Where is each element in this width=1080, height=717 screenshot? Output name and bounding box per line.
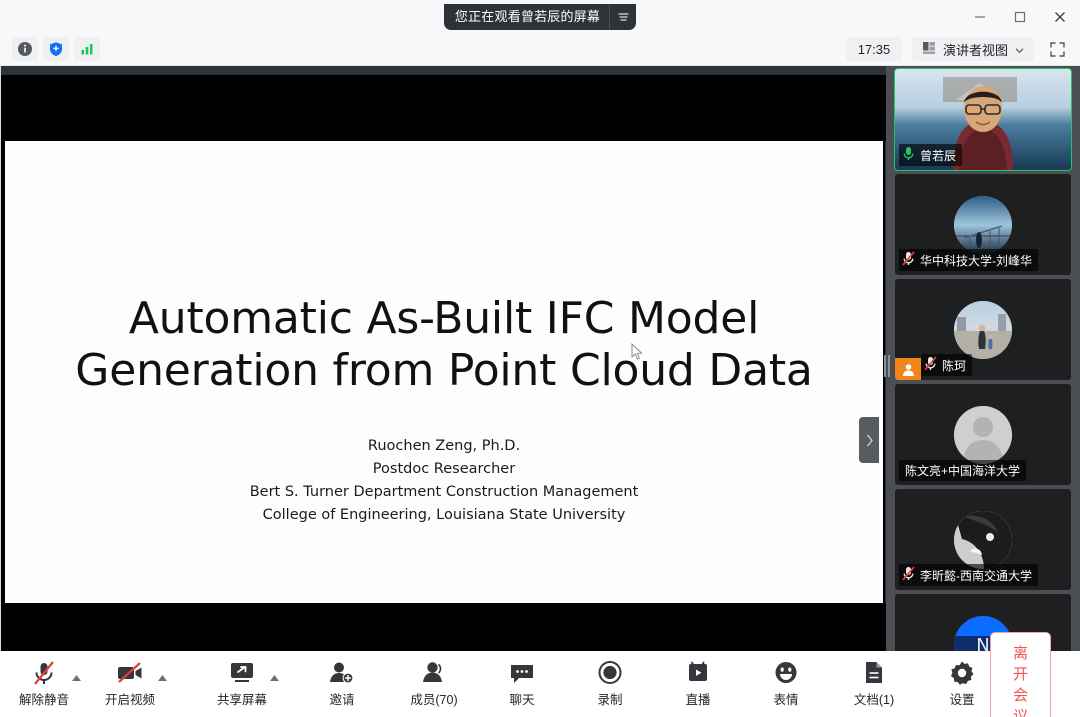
slide-subtitle-line-2: Postdoc Researcher [5, 458, 883, 481]
chat-button[interactable]: 聊天 [494, 655, 550, 713]
emoji-smile-icon [773, 660, 799, 686]
participant-tile[interactable]: 李昕懿-西南交通大学 [895, 489, 1071, 590]
participant-name: 李昕懿-西南交通大学 [920, 567, 1032, 584]
document-icon [862, 660, 886, 686]
microphone-muted-icon [924, 356, 937, 374]
svg-text:N: N [976, 635, 989, 652]
start-video-button-label: 开启视频 [105, 689, 155, 708]
participant-panel[interactable]: 曾若辰 [886, 66, 1080, 651]
participant-name: 陈文亮+中国海洋大学 [905, 462, 1020, 479]
gear-icon [949, 660, 975, 686]
layout-icon [922, 41, 936, 58]
screen-share-banner[interactable]: 您正在观看曾若辰的屏幕 [444, 4, 636, 30]
meeting-toolbar: 17:35 演讲者视图 [0, 33, 1080, 66]
panel-resize-handle[interactable] [882, 353, 891, 379]
mouse-pointer-icon [631, 343, 643, 361]
unmute-button[interactable]: 解除静音 [16, 655, 72, 713]
meeting-controls-bar: 解除静音 开启视频 共享屏幕 [0, 651, 1080, 717]
view-mode-select[interactable]: 演讲者视图 [912, 37, 1034, 61]
toolbar-left-group [0, 37, 100, 61]
invite-button-label: 邀请 [329, 689, 354, 708]
presentation-slide: Automatic As-Built IFC Model Generation … [5, 141, 883, 603]
slide-subtitle-line-3: Bert S. Turner Department Construction M… [5, 481, 883, 504]
record-icon [597, 660, 623, 686]
emoji-button-label: 表情 [773, 689, 798, 708]
slide-subtitle-line-4: College of Engineering, Louisiana State … [5, 504, 883, 527]
participant-name: 华中科技大学-刘峰华 [920, 252, 1032, 269]
menu-icon[interactable] [609, 4, 636, 30]
share-screen-button[interactable]: 共享屏幕 [214, 655, 270, 713]
maximize-icon[interactable] [1000, 0, 1040, 33]
members-button[interactable]: 成员(70) [406, 655, 462, 713]
signal-bars-icon[interactable] [74, 37, 100, 61]
letterbox-bottom [1, 603, 887, 651]
minimize-icon[interactable] [960, 0, 1000, 33]
invite-button[interactable]: 邀请 [314, 655, 370, 713]
live-broadcast-icon [685, 660, 711, 686]
shared-screen-stage[interactable]: Automatic As-Built IFC Model Generation … [0, 66, 886, 651]
view-mode-label: 演讲者视图 [943, 40, 1008, 59]
close-icon[interactable] [1040, 0, 1080, 33]
window-controls [960, 0, 1080, 33]
leave-meeting-button[interactable]: 离开会议 [990, 632, 1051, 717]
participant-nametag: 陈文亮+中国海洋大学 [899, 460, 1026, 481]
host-badge-icon [895, 358, 921, 380]
audio-options-caret-icon[interactable] [71, 671, 82, 685]
participant-tile[interactable]: 陈文亮+中国海洋大学 [895, 384, 1071, 485]
unmute-button-label: 解除静音 [19, 689, 69, 708]
shield-icon[interactable] [43, 37, 69, 61]
screen-share-banner-text: 您正在观看曾若辰的屏幕 [455, 4, 600, 30]
avatar [954, 406, 1012, 464]
video-options-caret-icon[interactable] [157, 671, 168, 685]
letterbox-top [1, 75, 887, 141]
participant-nametag: 华中科技大学-刘峰华 [899, 249, 1038, 271]
microphone-icon [902, 146, 915, 164]
meeting-window: 您正在观看曾若辰的屏幕 [0, 0, 1080, 717]
participant-tile[interactable]: 华中科技大学-刘峰华 [895, 174, 1071, 275]
settings-button[interactable]: 设置 [934, 655, 990, 713]
add-person-icon [329, 660, 355, 686]
share-options-caret-icon[interactable] [269, 671, 280, 685]
chevron-right-icon[interactable] [859, 417, 879, 463]
settings-button-label: 设置 [949, 689, 974, 708]
share-screen-button-label: 共享屏幕 [217, 689, 267, 708]
participant-nametag: 陈珂 [921, 354, 972, 376]
slide-title-line-2: Generation from Point Cloud Data [5, 345, 883, 397]
info-icon[interactable] [12, 37, 38, 61]
slide-subtitle-line-1: Ruochen Zeng, Ph.D. [5, 435, 883, 458]
participant-nametag: 李昕懿-西南交通大学 [899, 564, 1038, 586]
slide-title: Automatic As-Built IFC Model Generation … [5, 293, 883, 398]
members-button-label: 成员(70) [410, 689, 457, 708]
avatar [954, 511, 1012, 569]
microphone-muted-icon [902, 251, 915, 269]
participant-tile[interactable]: 陈珂 [895, 279, 1071, 380]
avatar [954, 301, 1012, 359]
participant-list[interactable]: 曾若辰 [886, 66, 1080, 651]
live-broadcast-button-label: 直播 [685, 689, 710, 708]
meeting-clock: 17:35 [846, 37, 902, 61]
slide-subtitle: Ruochen Zeng, Ph.D. Postdoc Researcher B… [5, 435, 883, 527]
start-video-button[interactable]: 开启视频 [102, 655, 158, 713]
share-screen-icon [228, 660, 256, 686]
record-button-label: 录制 [597, 689, 622, 708]
microphone-muted-icon [902, 566, 915, 584]
participant-name: 曾若辰 [920, 147, 956, 164]
camera-off-icon [116, 660, 144, 686]
title-bar: 您正在观看曾若辰的屏幕 [0, 0, 1080, 33]
fullscreen-icon[interactable] [1044, 37, 1070, 61]
chat-button-label: 聊天 [509, 689, 534, 708]
chevron-down-icon [1015, 42, 1024, 57]
live-broadcast-button[interactable]: 直播 [670, 655, 726, 713]
documents-button-label: 文档(1) [854, 689, 894, 708]
avatar [954, 196, 1012, 254]
participant-name: 陈珂 [942, 357, 966, 374]
person-icon [421, 660, 447, 686]
participant-nametag: 曾若辰 [899, 144, 962, 166]
record-button[interactable]: 录制 [582, 655, 638, 713]
toolbar-right-group: 17:35 演讲者视图 [846, 37, 1080, 61]
slide-title-line-1: Automatic As-Built IFC Model [5, 293, 883, 345]
microphone-muted-icon [31, 660, 57, 686]
documents-button[interactable]: 文档(1) [846, 655, 902, 713]
emoji-button[interactable]: 表情 [758, 655, 814, 713]
stage-top-strip [1, 66, 887, 75]
chat-bubble-icon [509, 660, 535, 686]
participant-tile[interactable]: 曾若辰 [895, 69, 1071, 170]
